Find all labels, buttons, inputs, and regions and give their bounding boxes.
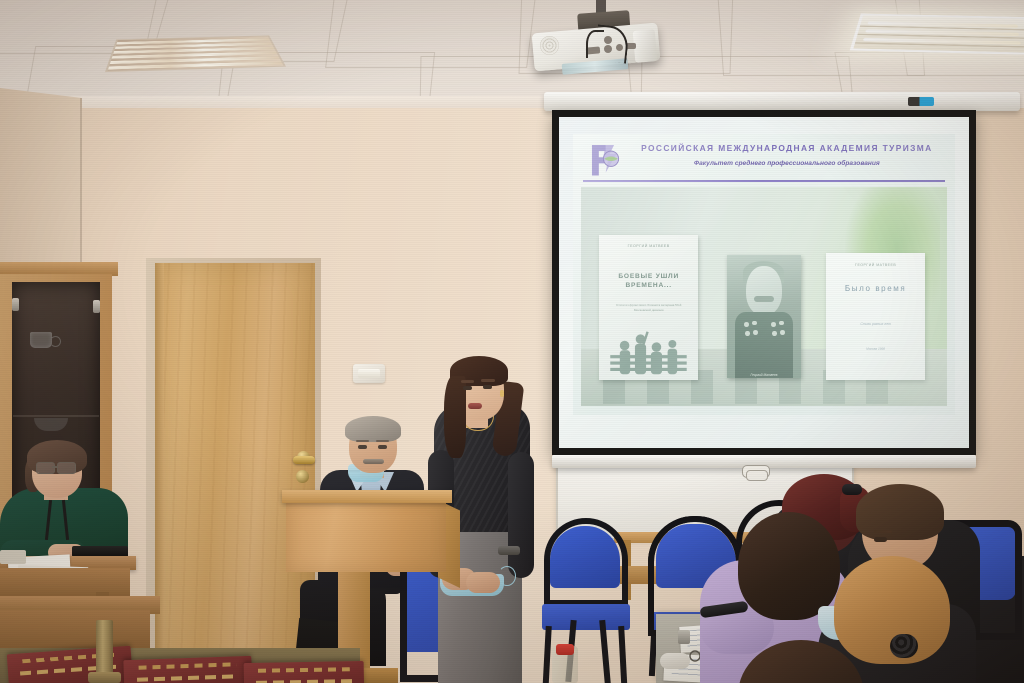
classroom-photo: РОССИЙСКАЯ МЕЖДУНАРОДНАЯ АКАДЕМИЯ ТУРИЗМ…: [0, 0, 1024, 683]
photo-vignette: [0, 0, 1024, 683]
